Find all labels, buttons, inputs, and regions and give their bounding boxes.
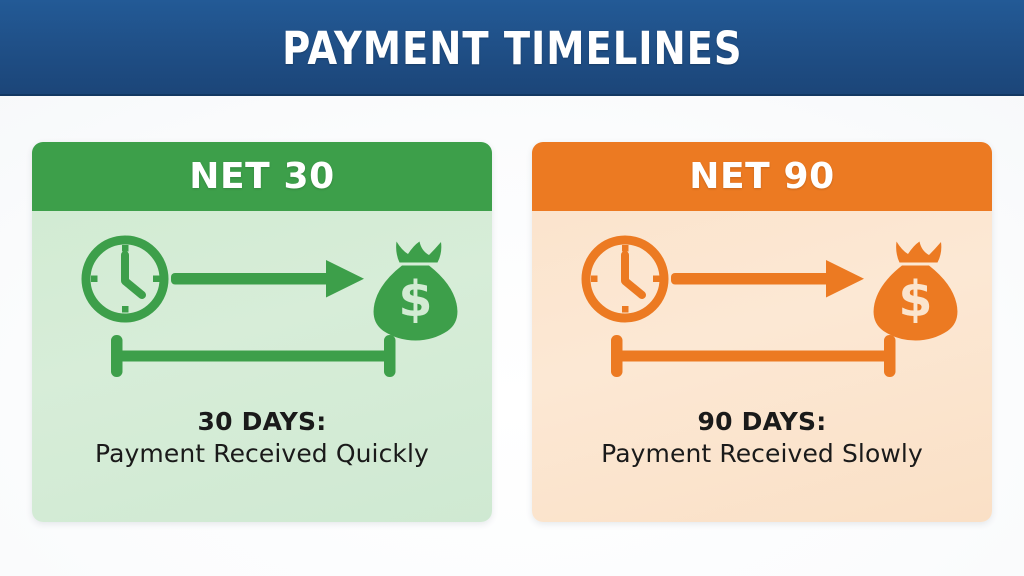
timeline-diagram-net-30: $ <box>32 211 492 401</box>
card-net-30[interactable]: NET 30 <box>32 142 492 522</box>
caption-description-net-90: Payment Received Slowly <box>532 439 992 469</box>
card-title-net-30: NET 30 <box>189 159 335 195</box>
card-caption-net-90: 90 DAYS: Payment Received Slowly <box>532 407 992 469</box>
page-title: PAYMENT TIMELINES <box>282 26 742 71</box>
card-caption-net-30: 30 DAYS: Payment Received Quickly <box>32 407 492 469</box>
cards-container: NET 30 <box>0 96 1024 576</box>
clock-icon <box>86 240 164 318</box>
card-header-net-30: NET 30 <box>32 142 492 211</box>
svg-text:$: $ <box>398 271 432 328</box>
card-body-net-30: $ 30 DAYS: Payment Recei <box>32 211 492 522</box>
timeline-diagram-net-90: $ <box>532 211 992 401</box>
caption-days-net-90: 90 DAYS: <box>532 407 992 437</box>
card-header-net-90: NET 90 <box>532 142 992 211</box>
timeline-bar-icon <box>611 335 896 377</box>
caption-description-net-30: Payment Received Quickly <box>32 439 492 469</box>
arrow-right-icon <box>171 260 364 298</box>
money-bag-icon: $ <box>374 242 458 341</box>
arrow-right-icon <box>671 260 864 298</box>
page-header-band: PAYMENT TIMELINES <box>0 0 1024 96</box>
card-body-net-90: $ 90 DAYS: Payment Recei <box>532 211 992 522</box>
money-bag-icon: $ <box>874 242 958 341</box>
timeline-bar-icon <box>111 335 396 377</box>
page-background: PAYMENT TIMELINES NET 30 <box>0 0 1024 576</box>
card-net-90[interactable]: NET 90 <box>532 142 992 522</box>
clock-icon <box>586 240 664 318</box>
svg-text:$: $ <box>898 271 932 328</box>
caption-days-net-30: 30 DAYS: <box>32 407 492 437</box>
card-title-net-90: NET 90 <box>689 159 835 195</box>
